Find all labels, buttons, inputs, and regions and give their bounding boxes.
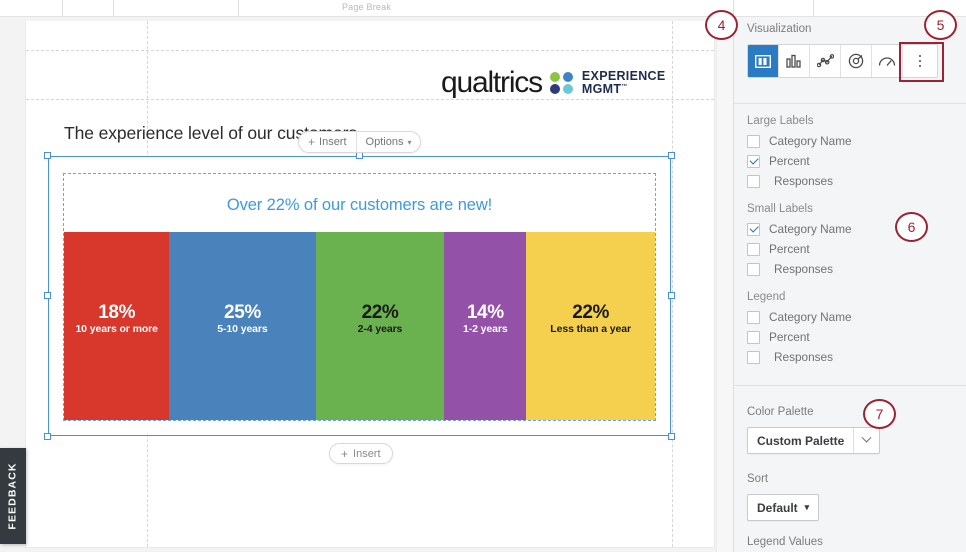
checkbox-unchecked-icon[interactable] [747, 135, 760, 148]
checkbox-unchecked-icon[interactable] [747, 263, 760, 276]
annotation-marker-4: 4 [705, 10, 738, 40]
chart-bar[interactable]: 22%Less than a year [526, 232, 655, 420]
resize-handle-bottom-right[interactable] [668, 433, 675, 440]
resize-handle-top-center[interactable] [356, 152, 363, 159]
options-button-label: Options [366, 136, 404, 148]
resize-handle-top-right[interactable] [668, 152, 675, 159]
insert-options-toolbar: + Insert Options ▾ [298, 131, 421, 153]
sidebar-divider [733, 385, 966, 386]
chart-selection-frame[interactable]: Over 22% of our customers are new! 18%10… [48, 156, 671, 436]
logo-dots-icon [550, 72, 574, 94]
chart-bar[interactable]: 25%5-10 years [169, 232, 315, 420]
chart-bar-category: 10 years or more [64, 324, 169, 336]
logo-wordmark: qualtrics [441, 68, 542, 98]
checkbox-row[interactable]: Category Name [747, 310, 852, 324]
checkbox-label: Percent [769, 330, 810, 344]
legend-values-label: Legend Values [747, 536, 823, 548]
checkbox-row[interactable]: Percent [747, 154, 810, 168]
checkbox-row[interactable]: Category Name [747, 222, 852, 236]
resize-handle-bottom-left[interactable] [44, 433, 51, 440]
resize-handle-middle-left[interactable] [44, 292, 51, 299]
bottom-insert-label: Insert [353, 448, 381, 460]
options-button[interactable]: Options ▾ [357, 132, 421, 152]
checkbox-unchecked-icon[interactable] [747, 311, 760, 324]
insert-button-label: Insert [319, 136, 347, 148]
chart-bar-labels: 22%Less than a year [526, 302, 655, 336]
checkbox-label: Percent [769, 242, 810, 256]
checkbox-label: Category Name [769, 134, 852, 148]
chart-bar-labels: 22%2-4 years [316, 302, 445, 336]
color-palette-select[interactable]: Custom Palette [747, 427, 880, 454]
checkbox-row[interactable]: Percent [747, 242, 810, 256]
resize-handle-top-left[interactable] [44, 152, 51, 159]
checkbox-row[interactable]: Responses [747, 262, 833, 276]
visualization-sidebar [733, 0, 966, 552]
sidebar-group-title: Large Labels [747, 115, 814, 127]
visualization-heading: Visualization [747, 23, 811, 35]
sort-value: Default▾ [748, 495, 818, 520]
annotation-marker-7: 7 [863, 399, 896, 429]
chart-bar[interactable]: 14%1-2 years [444, 232, 526, 420]
chart-bar-labels: 25%5-10 years [169, 302, 315, 336]
chart-bar-labels: 14%1-2 years [444, 302, 526, 336]
chart-bars: 18%10 years or more25%5-10 years22%2-4 y… [64, 232, 655, 420]
chevron-down-icon: ▾ [805, 502, 810, 513]
chart-bar[interactable]: 18%10 years or more [64, 232, 169, 420]
chevron-down-icon: ▾ [407, 138, 411, 147]
columns-chart-icon[interactable] [748, 45, 779, 77]
chart-bar-percent: 22% [526, 302, 655, 323]
checkbox-unchecked-icon[interactable] [747, 351, 760, 364]
logo-tagline: EXPERIENCE MGMT™ [582, 70, 666, 96]
chart-bar-category: Less than a year [526, 324, 655, 336]
checkbox-label: Responses [774, 262, 833, 276]
chart-bar-percent: 22% [316, 302, 445, 323]
checkbox-row[interactable]: Responses [747, 350, 833, 364]
page-break-label: Page Break [0, 2, 733, 12]
checkbox-row[interactable]: Percent [747, 330, 810, 344]
sidebar-group-title: Small Labels [747, 203, 813, 215]
checkbox-unchecked-icon[interactable] [747, 243, 760, 256]
checkbox-row[interactable]: Responses [747, 174, 833, 188]
sort-label: Sort [747, 473, 768, 485]
line-chart-icon[interactable] [810, 45, 841, 77]
donut-chart-icon[interactable] [841, 45, 872, 77]
color-palette-label: Color Palette [747, 406, 813, 418]
app-root: Page Break qualtrics EXPERIENCE MGMT™ Th… [0, 0, 966, 552]
chart-bar-labels: 18%10 years or more [64, 302, 169, 336]
chart-title: Over 22% of our customers are new! [64, 196, 655, 215]
annotation-highlight-box [899, 42, 944, 82]
plus-icon: + [308, 136, 315, 148]
chart-bar-category: 2-4 years [316, 324, 445, 336]
sort-select[interactable]: Default▾ [747, 494, 819, 521]
chart-bar-percent: 18% [64, 302, 169, 323]
chart-bar-percent: 14% [444, 302, 526, 323]
checkbox-label: Percent [769, 154, 810, 168]
checkbox-label: Category Name [769, 222, 852, 236]
sidebar-group-title: Legend [747, 291, 785, 303]
logo-tagline-line2: MGMT™ [582, 83, 666, 96]
checkbox-label: Responses [774, 174, 833, 188]
feedback-tab-label: FEEDBACK [7, 462, 19, 529]
checkbox-checked-icon[interactable] [747, 155, 760, 168]
checkbox-unchecked-icon[interactable] [747, 175, 760, 188]
layout-guide-horizontal [26, 99, 714, 100]
annotation-marker-6: 6 [895, 212, 928, 242]
toolbar-strip: Page Break [0, 0, 733, 17]
checkbox-row[interactable]: Category Name [747, 134, 852, 148]
chart-bar[interactable]: 22%2-4 years [316, 232, 445, 420]
annotation-marker-5: 5 [924, 10, 957, 40]
chart-inner-bounds: Over 22% of our customers are new! 18%10… [63, 173, 656, 421]
checkbox-unchecked-icon[interactable] [747, 331, 760, 344]
resize-handle-middle-right[interactable] [668, 292, 675, 299]
bar-chart-icon[interactable] [779, 45, 810, 77]
chevron-down-icon[interactable] [853, 428, 879, 453]
insert-button[interactable]: + Insert [299, 132, 356, 152]
checkbox-label: Category Name [769, 310, 852, 324]
color-palette-value: Custom Palette [748, 428, 853, 453]
checkbox-label: Responses [774, 350, 833, 364]
plus-icon: + [341, 448, 348, 460]
feedback-tab[interactable]: FEEDBACK [0, 448, 26, 544]
chart-bar-category: 1-2 years [444, 324, 526, 336]
bottom-insert-button[interactable]: + Insert [329, 443, 393, 464]
chart-bar-category: 5-10 years [169, 324, 315, 336]
checkbox-checked-icon[interactable] [747, 223, 760, 236]
sidebar-toolbar-divider [813, 0, 814, 17]
chart-bar-percent: 25% [169, 302, 315, 323]
layout-guide-horizontal [26, 50, 714, 51]
qualtrics-logo: qualtrics EXPERIENCE MGMT™ [441, 68, 666, 98]
canvas-scroll-gutter[interactable] [716, 34, 733, 552]
sidebar-divider [733, 103, 966, 104]
